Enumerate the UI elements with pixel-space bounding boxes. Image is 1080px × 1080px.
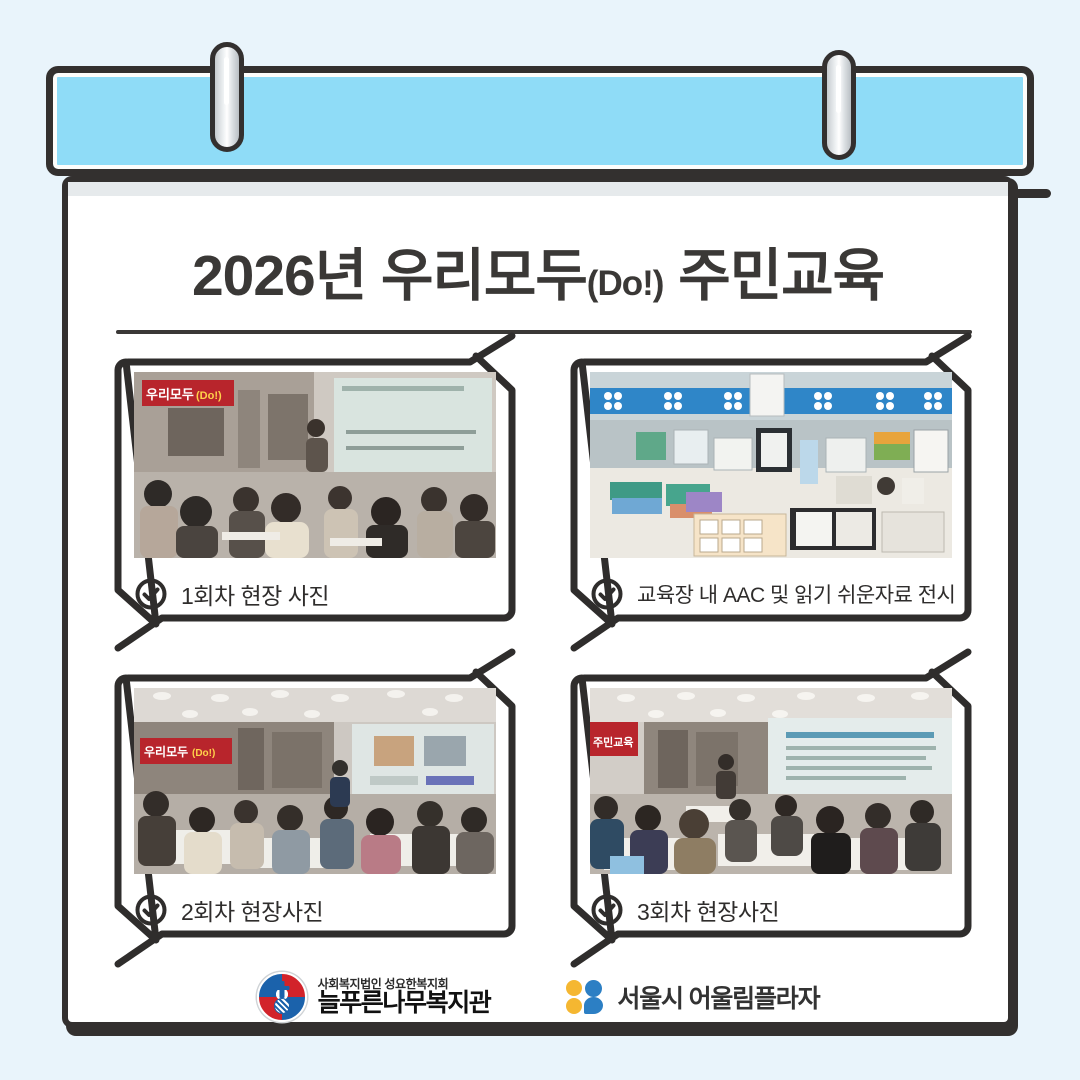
logo-neulpureun-text: 사회복지법인 성요한복지회 늘푸른나무복지관 xyxy=(318,978,491,1017)
logo-center-name: 늘푸른나무복지관 xyxy=(318,990,491,1016)
logo-neulpureun: 사회복지법인 성요한복지회 늘푸른나무복지관 xyxy=(257,972,491,1022)
logo-eoullim-plaza: 서울시 어울림플라자 xyxy=(566,979,819,1015)
page-title-tail: 주민교육 xyxy=(663,244,884,308)
card-photo-1: 우리모두 (Do!) xyxy=(134,372,496,558)
svg-text:(Do!): (Do!) xyxy=(196,390,222,402)
photo-card-1[interactable]: 우리모두 (Do!) xyxy=(110,352,520,637)
svg-text:우리모두: 우리모두 xyxy=(144,744,188,759)
dot-yellow-top xyxy=(566,980,582,996)
card-caption-text-3: 2회차 현장사진 xyxy=(181,893,323,927)
photo-card-4[interactable]: 주민교육 xyxy=(566,668,976,953)
clipboard-top-bar xyxy=(46,66,1034,176)
dot-blue-bottom xyxy=(584,997,603,1014)
card-caption-3: 2회차 현장사진 xyxy=(134,893,323,927)
page-top-shade xyxy=(68,182,1008,196)
card-caption-2: 교육장 내 AAC 및 읽기 쉬운자료 전시 xyxy=(590,577,955,611)
title-divider xyxy=(116,330,972,334)
svg-text:(Do!): (Do!) xyxy=(192,748,215,759)
page-title-sub: (Do!) xyxy=(587,264,664,303)
card-photo-2 xyxy=(590,372,952,558)
logo-plaza-label: 서울시 어울림플라자 xyxy=(617,979,819,1015)
page-title-main: 2026년 우리모두 xyxy=(192,244,587,308)
dot-blue-top xyxy=(585,980,602,997)
svg-text:주민교육: 주민교육 xyxy=(593,735,633,749)
card-caption-4: 3회차 현장사진 xyxy=(590,893,779,927)
dot-yellow-bottom xyxy=(566,998,582,1014)
card-caption-text-4: 3회차 현장사진 xyxy=(637,893,779,927)
card-photo-4: 주민교육 xyxy=(590,688,952,874)
footer-logos: 사회복지법인 성요한복지회 늘푸른나무복지관 서울시 어울림플라자 xyxy=(68,972,1008,1022)
st-john-welfare-emblem-icon xyxy=(257,972,307,1022)
page-title: 2026년 우리모두(Do!) 주민교육 xyxy=(68,230,1008,312)
svg-text:우리모두: 우리모두 xyxy=(146,387,194,402)
check-circle-icon xyxy=(134,577,168,611)
card-caption-text-1: 1회차 현장 사진 xyxy=(181,577,329,611)
card-caption-1: 1회차 현장 사진 xyxy=(134,577,329,611)
photo-card-3[interactable]: 우리모두 (Do!) xyxy=(110,668,520,953)
poster-page: 2026년 우리모두(Do!) 주민교육 우리모두 (Do!) xyxy=(62,176,1014,1028)
card-photo-3: 우리모두 (Do!) xyxy=(134,688,496,874)
check-circle-icon xyxy=(590,893,624,927)
photo-card-2[interactable]: 교육장 내 AAC 및 읽기 쉬운자료 전시 xyxy=(566,352,976,637)
emblem-core xyxy=(274,998,290,1014)
people-dots-icon xyxy=(566,980,606,1014)
clipboard-pin-right xyxy=(822,50,856,160)
photo-grid: 우리모두 (Do!) xyxy=(110,352,976,964)
poster-canvas: 2026년 우리모두(Do!) 주민교육 우리모두 (Do!) xyxy=(0,0,1080,1080)
check-circle-icon xyxy=(134,893,168,927)
clipboard-pin-left xyxy=(210,42,244,152)
card-caption-text-2: 교육장 내 AAC 및 읽기 쉬운자료 전시 xyxy=(637,579,955,609)
check-circle-icon xyxy=(590,577,624,611)
